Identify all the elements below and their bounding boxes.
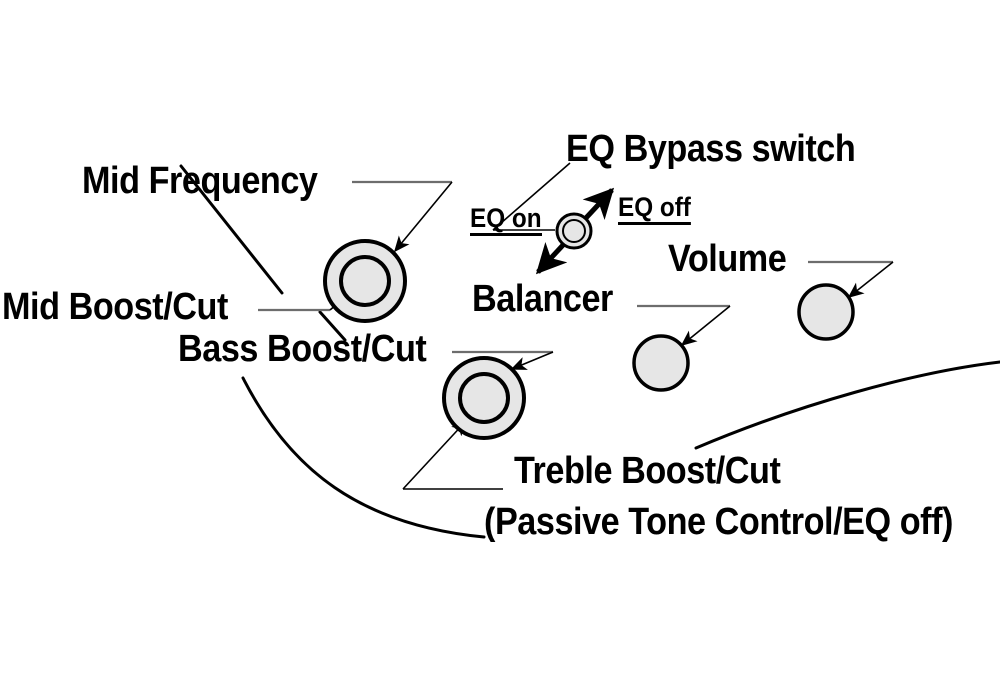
body-contour-right: [696, 362, 1000, 448]
mid-knob-inner-cap[interactable]: [341, 257, 389, 305]
volume-knob[interactable]: [799, 285, 853, 339]
leader-balancer-arrow: [682, 306, 730, 345]
leader-line-group: [258, 163, 893, 489]
eq-bypass-switch[interactable]: [557, 214, 591, 248]
leader-treble-arrow: [403, 421, 466, 489]
leader-bass-boost-arrow: [512, 352, 553, 369]
mid-stacked-knob[interactable]: [325, 241, 405, 321]
leader-volume-arrow: [849, 262, 893, 297]
leader-mid-frequency-arrow: [395, 182, 452, 251]
bass-control-diagram: Mid Frequency Mid Boost/Cut Bass Boost/C…: [0, 0, 1000, 688]
label-treble-subtitle: (Passive Tone Control/EQ off): [484, 503, 953, 541]
eq-off-direction-arrow: [585, 190, 612, 219]
label-mid-boost-cut: Mid Boost/Cut: [2, 288, 228, 326]
label-balancer: Balancer: [472, 280, 613, 318]
label-volume: Volume: [668, 240, 786, 278]
bass-treble-stacked-knob[interactable]: [444, 358, 524, 438]
label-eq-on: EQ on: [470, 205, 542, 236]
eq-on-direction-arrow: [538, 244, 564, 272]
label-eq-off: EQ off: [618, 194, 691, 225]
treble-knob-inner-cap[interactable]: [460, 374, 508, 422]
diagram-canvas: [0, 0, 1000, 688]
label-eq-bypass-switch: EQ Bypass switch: [566, 130, 855, 168]
balancer-knob[interactable]: [634, 336, 688, 390]
eq-switch-toggle[interactable]: [563, 220, 585, 242]
label-bass-boost-cut: Bass Boost/Cut: [178, 330, 426, 368]
label-mid-frequency: Mid Frequency: [82, 162, 317, 200]
label-treble-boost-cut: Treble Boost/Cut: [514, 452, 780, 490]
